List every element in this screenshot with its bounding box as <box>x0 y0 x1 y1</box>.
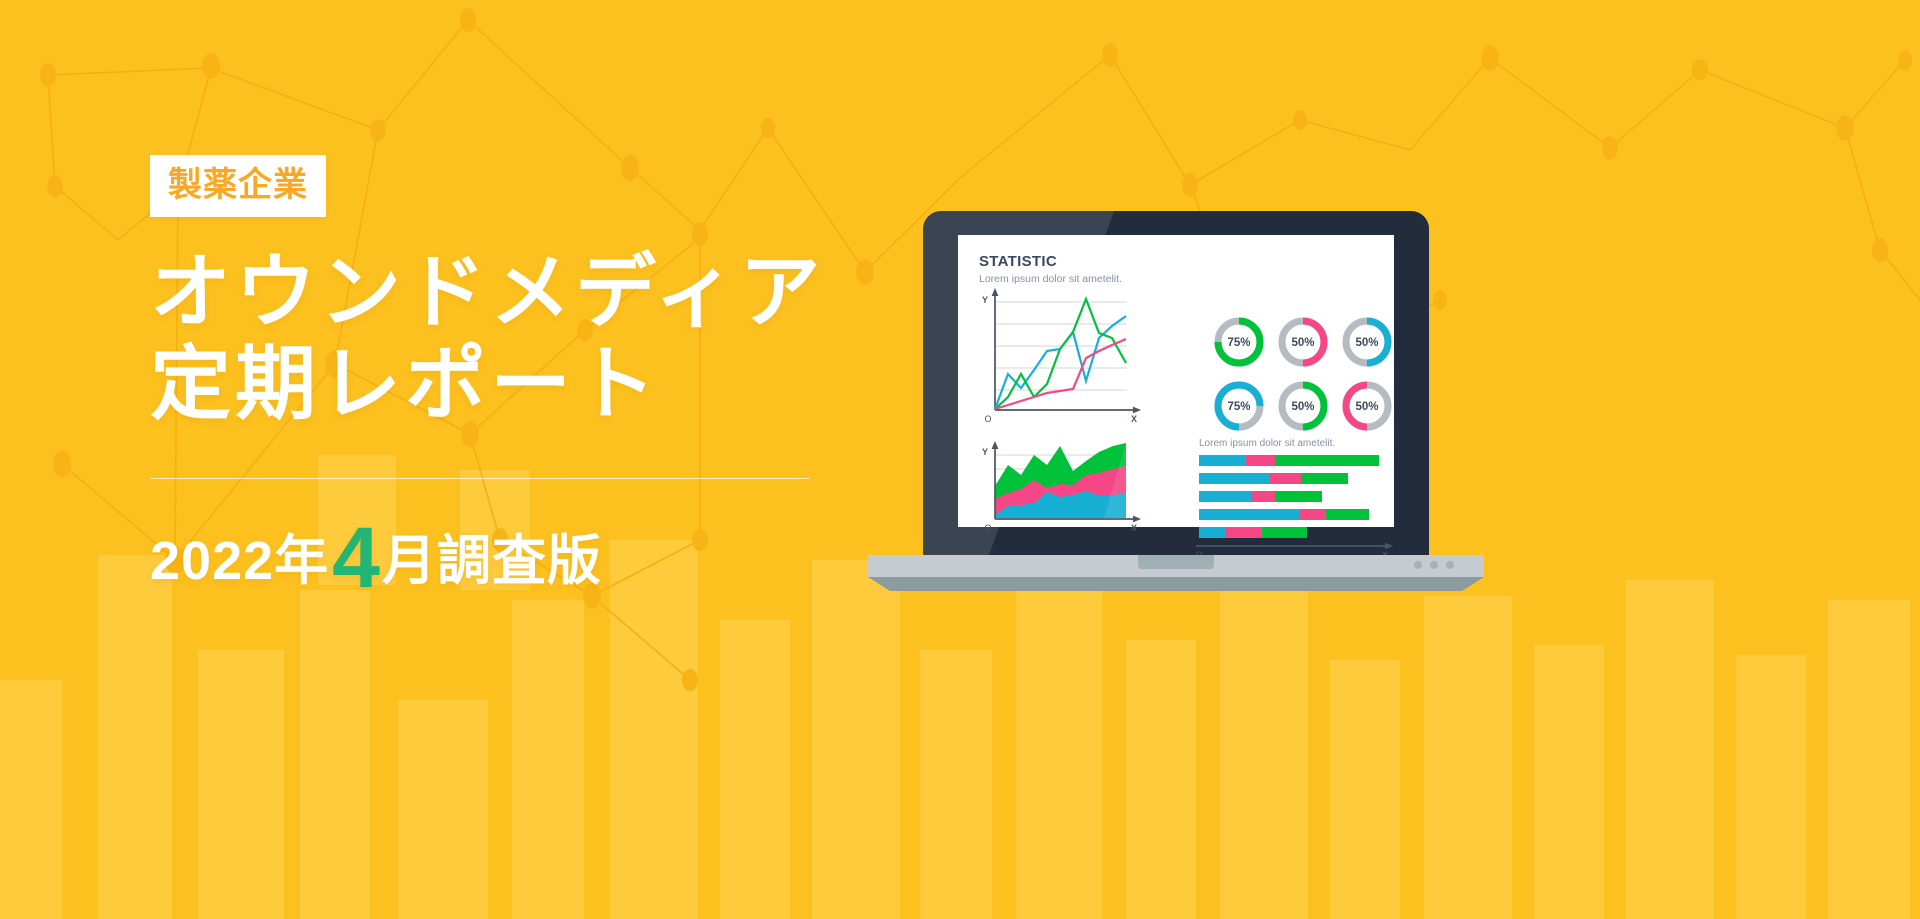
page-title-line-1: オウンドメディア <box>150 247 910 339</box>
bar-row-4 <box>1199 509 1369 520</box>
laptop-base-bottom <box>868 577 1484 591</box>
laptop-trackpad-notch <box>1138 555 1214 569</box>
laptop-illustration: STATISTIC Lorem ipsum dolor sit ametelit… <box>866 203 1486 593</box>
category-badge: 製薬企業 <box>150 155 326 217</box>
donut-5-label: 50% <box>1291 401 1314 413</box>
line-chart-x-label: X <box>1131 414 1137 424</box>
title-divider <box>150 478 810 479</box>
hero-text-block: 製薬企業 オウンドメディア 定期レポート 2022年4月調査版 <box>150 155 910 595</box>
area-chart-x-label: X <box>1131 523 1137 533</box>
statistic-subtitle: Lorem ipsum dolor sit ametelit. <box>979 273 1122 285</box>
bar-row-2 <box>1199 473 1348 484</box>
area-chart-origin-label: O <box>984 523 991 533</box>
survey-date: 2022年4月調査版 <box>150 516 910 595</box>
statistic-title: STATISTIC <box>979 253 1057 270</box>
page-title: オウンドメディア 定期レポート <box>150 247 910 432</box>
survey-date-month: 4 <box>332 510 380 606</box>
area-chart: Y X O <box>982 441 1141 533</box>
line-chart-y-label: Y <box>982 295 988 305</box>
line-chart-origin-label: O <box>984 414 991 424</box>
page-title-line-2: 定期レポート <box>150 339 910 431</box>
category-badge-label: 製薬企業 <box>168 166 308 204</box>
donut-4-label: 75% <box>1227 401 1250 413</box>
bar-row-3 <box>1199 491 1322 502</box>
donut-3-label: 50% <box>1355 337 1378 349</box>
survey-date-year: 2022年 <box>150 531 329 591</box>
area-chart-y-label: Y <box>982 447 988 457</box>
donut-2-label: 50% <box>1291 337 1314 349</box>
donut-1-label: 75% <box>1227 337 1250 349</box>
survey-date-suffix: 月調査版 <box>382 531 602 591</box>
donut-6-label: 50% <box>1355 401 1378 413</box>
laptop-base-dots <box>1414 561 1454 569</box>
bar-chart-caption: Lorem ipsum dolor sit ametelit. <box>1199 438 1335 449</box>
bar-row-1 <box>1199 455 1379 466</box>
bar-row-5 <box>1199 527 1307 538</box>
